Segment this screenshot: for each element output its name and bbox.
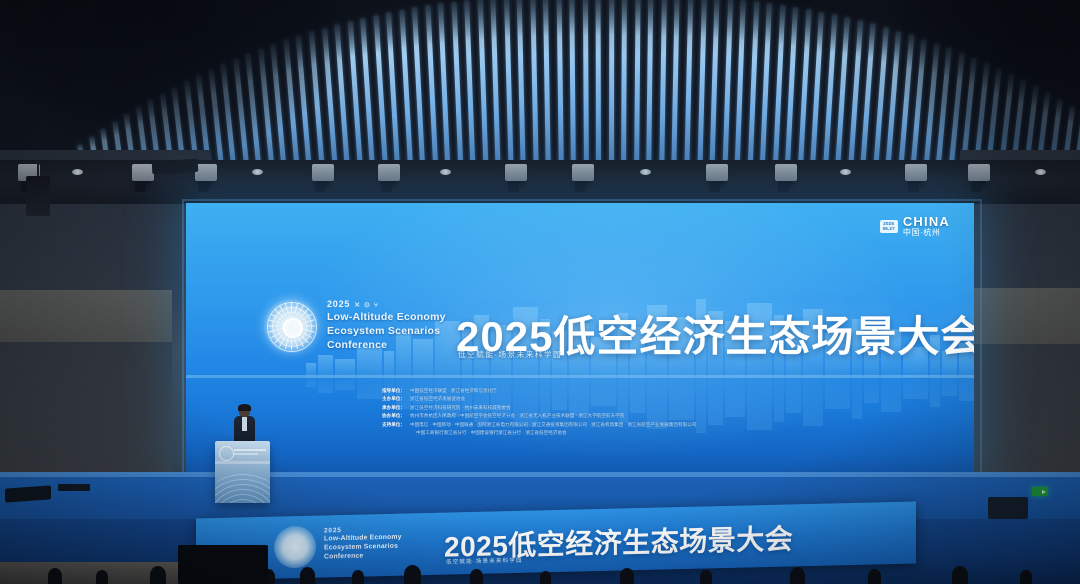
credits-block: 指导单位：中国低空经济联盟 · 浙江省经济和信息化厅主办单位：浙江省低空经济发展… [382, 387, 922, 438]
audience-head [150, 566, 166, 584]
audience-head [96, 570, 108, 584]
credit-row: 主办单位：浙江省低空经济发展促进会 [382, 395, 922, 403]
ceiling-fin [425, 5, 439, 185]
ceiling-fin [412, 7, 426, 185]
podium-text-line-2 [234, 453, 258, 455]
skyline-building [335, 377, 355, 390]
ceiling-fin [464, 0, 476, 185]
credit-value: 中国电信 · 中国移动 · 中国联通 · 国网浙江省电力有限公司 · 浙江交通投… [410, 421, 696, 429]
credit-value: 浙江低空经济科技研究院 · 杭州未来科技城管委会 [410, 404, 511, 412]
credit-value: 浙江省低空经济发展促进会 [410, 395, 465, 403]
conference-emblem-icon [264, 299, 318, 353]
stage-equipment-left-2 [58, 484, 90, 491]
ceiling-fin [722, 0, 733, 185]
truss-spotlight-icon [706, 164, 728, 181]
audience-head [1020, 570, 1032, 584]
ceiling-fin [491, 0, 502, 185]
audience-head [952, 566, 968, 584]
wall-light-band-left [0, 290, 172, 342]
ceiling-fin [477, 0, 488, 185]
ceiling-fin [438, 3, 451, 185]
speaker-person [234, 405, 254, 445]
skyline-building [357, 377, 382, 399]
podium-swirl-graphic [215, 471, 270, 503]
credit-row: 承办单位：浙江低空经济科技研究院 · 杭州未来科技城管委会 [382, 404, 922, 412]
conference-photo-scene: 2025 06.27 CHINA 中国·杭州 2025 ✕ ⊙ ⑂ Low-Al… [0, 0, 1080, 584]
credit-key: 指导单位： [382, 387, 405, 395]
lockup-line-1: Low-Altitude Economy [327, 311, 446, 325]
ceiling-fin [784, 7, 798, 185]
ceiling-fin [684, 0, 693, 185]
truss-lamp-icon [440, 169, 451, 175]
ceiling-fin [747, 1, 759, 185]
lockup-year-row: 2025 ✕ ⊙ ⑂ [327, 299, 446, 311]
truss-spotlight-icon [312, 164, 334, 181]
skyline-building [306, 377, 316, 387]
stage-equipment-right [988, 497, 1028, 519]
ceiling-fin [451, 2, 463, 185]
truss-spotlight-icon [505, 164, 527, 181]
badge-date: 2025 06.27 [880, 220, 898, 233]
audience-head [300, 567, 315, 584]
banner-subtitle: 低空赋能·场景未来科学园 [446, 556, 523, 566]
truss-spotlight-icon [132, 164, 154, 181]
credit-row: 支持单位：中国电信 · 中国移动 · 中国联通 · 国网浙江省电力有限公司 · … [382, 421, 922, 429]
podium-band [215, 461, 270, 464]
hanging-speaker-left [26, 176, 50, 216]
podium-text-line-1 [234, 449, 266, 451]
truss-spotlight-icon [572, 164, 594, 181]
credit-continuation: 中国工商银行浙江省分行 · 中国建设银行浙江省分行 · 浙江省低空经济协会 [382, 429, 922, 437]
audience-area-monitor [178, 545, 268, 584]
skyline-building [318, 355, 333, 377]
banner-emblem-icon [274, 526, 316, 569]
skyline-building [930, 377, 940, 407]
ceiling-fin [556, 0, 563, 185]
lockup-year: 2025 [327, 299, 350, 311]
truss-lamp-icon [252, 169, 263, 175]
lockup-mini-marks-icon: ✕ ⊙ ⑂ [354, 301, 379, 310]
ceiling-fin [570, 0, 577, 185]
ceiling-fin [759, 3, 772, 185]
badge-date-day: 06.27 [883, 227, 895, 232]
podium [215, 441, 270, 503]
skyline-building [318, 377, 333, 393]
credit-key: 承办单位： [382, 404, 405, 412]
audience-head [790, 567, 805, 584]
banner-lockup-line-3: Conference [324, 552, 402, 563]
truss-lamp-icon [72, 169, 83, 175]
skyline-building [942, 377, 957, 396]
ceiling-fin [634, 0, 641, 185]
truss-spotlight-icon [378, 164, 400, 181]
china-host-badge: 2025 06.27 CHINA 中国·杭州 [880, 215, 950, 238]
ceiling-fin [659, 0, 667, 185]
credit-key: 支持单位： [382, 421, 405, 429]
ceiling-fin [697, 0, 707, 185]
ceiling-fin [734, 0, 746, 185]
wall-light-band-right [962, 288, 1080, 344]
credit-row: 指导单位：中国低空经济联盟 · 浙江省经济和信息化厅 [382, 387, 922, 395]
ceiling-fin [772, 5, 785, 185]
ceiling-fin [504, 0, 514, 185]
audience-head [540, 571, 551, 584]
ceiling-fin [671, 0, 680, 185]
ceiling-fin [543, 0, 551, 185]
podium-logo-icon [219, 446, 234, 461]
badge-text: CHINA 中国·杭州 [903, 215, 950, 238]
audience-head [470, 569, 483, 584]
lockup-line-3: Conference [327, 339, 446, 353]
led-screen: 2025 06.27 CHINA 中国·杭州 2025 ✕ ⊙ ⑂ Low-Al… [186, 203, 974, 475]
ceiling-fin [809, 12, 824, 185]
ceiling-fin [709, 0, 720, 185]
truss-spotlight-icon [905, 164, 927, 181]
skyline-building [384, 351, 394, 377]
ceiling-fin [530, 0, 539, 185]
audience-head [868, 569, 881, 584]
audience-head [352, 570, 364, 584]
ceiling-fin [596, 0, 601, 185]
truss-lamp-icon [640, 169, 651, 175]
credit-value: 杭州市余杭区人民政府 · 中国航空学会低空经济分会 · 浙江省无人机产业技术联盟… [410, 412, 624, 420]
truss-lamp-icon [840, 169, 851, 175]
ceiling-fin [621, 0, 627, 185]
banner-lockup: 2025 Low-Altitude Economy Ecosystem Scen… [324, 526, 402, 563]
credit-key: 协办单位： [382, 412, 405, 420]
lockup-text: 2025 ✕ ⊙ ⑂ Low-Altitude Economy Ecosyste… [327, 299, 446, 352]
credit-value: 中国低空经济联盟 · 浙江省经济和信息化厅 [410, 387, 497, 395]
credit-row: 协办单位：杭州市余杭区人民政府 · 中国航空学会低空经济分会 · 浙江省无人机产… [382, 412, 922, 420]
ceiling-fin [399, 10, 414, 185]
wall-lower-left [0, 342, 172, 492]
audience-head [620, 568, 634, 584]
audience-head [700, 570, 712, 584]
speaker-hair [238, 404, 251, 411]
screen-subtitle: 低空赋能·场景未来科学园 [458, 349, 562, 360]
ceiling-fin [797, 9, 811, 185]
ceiling-fin [609, 0, 614, 185]
ceiling-fin [517, 0, 526, 185]
speaker-shirt [242, 417, 247, 431]
ceiling-fin [583, 0, 589, 185]
exit-sign-icon [1032, 487, 1048, 496]
truss-lamp-icon [1035, 169, 1046, 175]
hanging-speaker-bar [152, 159, 199, 174]
ceiling-fin [646, 0, 653, 185]
audience-head [404, 565, 421, 584]
badge-country-cn: 中国·杭州 [903, 229, 950, 238]
credit-key: 主办单位： [382, 395, 405, 403]
truss-spotlight-icon [775, 164, 797, 181]
audience-head [48, 568, 62, 584]
lockup-line-2: Ecosystem Scenarios [327, 325, 446, 339]
skyline-building [959, 377, 974, 401]
truss-spotlight-icon [195, 164, 217, 181]
conference-lockup: 2025 ✕ ⊙ ⑂ Low-Altitude Economy Ecosyste… [264, 299, 446, 353]
truss-spotlight-icon [968, 164, 990, 181]
